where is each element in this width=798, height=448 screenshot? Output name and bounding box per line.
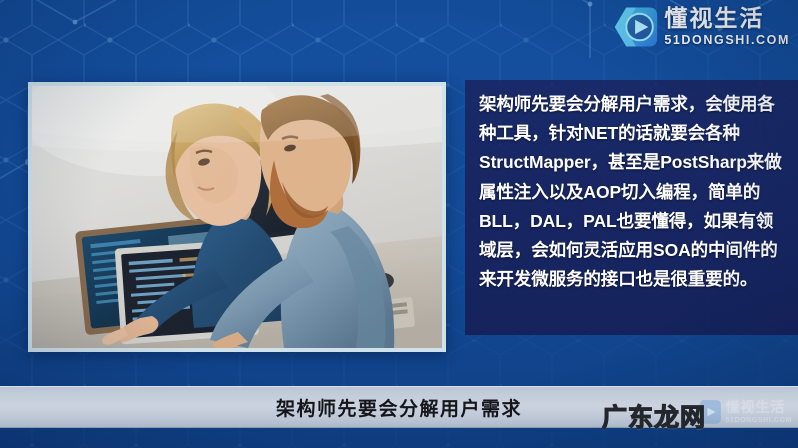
developers-photo — [32, 86, 442, 348]
caption-panel: 架构师先要会分解用户需求，会使用各种工具，针对NET的话就要会各种StructM… — [465, 80, 798, 335]
primary-watermark: 广东龙网 — [602, 398, 706, 434]
photo-frame — [28, 82, 446, 352]
watermark-brand-cn: 懂视生活 — [725, 400, 792, 414]
video-frame: 架构师先要会分解用户需求，会使用各种工具，针对NET的话就要会各种StructM… — [0, 0, 798, 448]
secondary-watermark: 懂视生活 51DONGSHI.COM — [694, 398, 792, 426]
watermark-brand-en: 51DONGSHI.COM — [725, 417, 792, 424]
brand-name-cn: 懂视生活 — [664, 7, 790, 30]
brand-logo[interactable]: 懂视生活 51DONGSHI.COM — [613, 4, 790, 50]
caption-text: 架构师先要会分解用户需求，会使用各种工具，针对NET的话就要会各种StructM… — [479, 90, 786, 294]
hexagon-play-d-icon — [613, 4, 659, 50]
watermark-brand-text: 懂视生活 51DONGSHI.COM — [725, 400, 792, 424]
brand-name-en: 51DONGSHI.COM — [664, 34, 790, 47]
developers-photo-illustration — [32, 86, 442, 348]
brand-logo-text: 懂视生活 51DONGSHI.COM — [664, 7, 790, 47]
subtitle-text: 架构师先要会分解用户需求 — [276, 394, 522, 421]
